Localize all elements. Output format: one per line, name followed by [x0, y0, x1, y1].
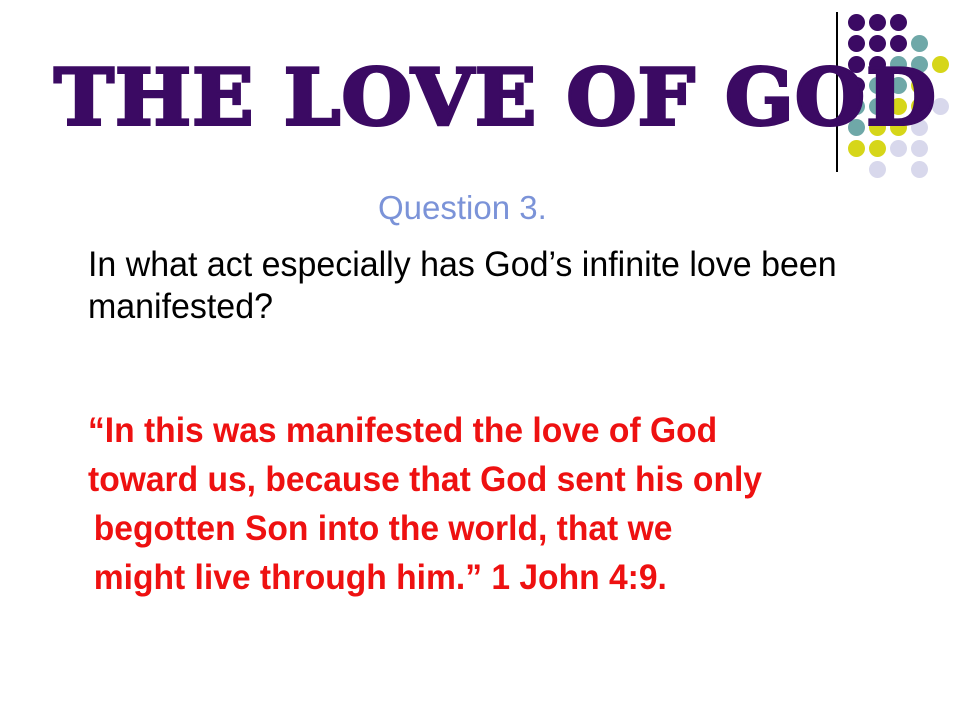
deco-dot-purple [890, 35, 907, 52]
deco-dot-lavender [911, 161, 928, 178]
scripture-line: “In this was manifested the love of God [88, 406, 885, 455]
deco-dot-purple [890, 14, 907, 31]
deco-dot-purple [869, 35, 886, 52]
scripture-line: begotten Son into the world, that we [88, 504, 885, 553]
deco-dot-purple [848, 35, 865, 52]
deco-dot-purple [848, 14, 865, 31]
scripture-line: might live through him.” 1 John 4:9. [88, 553, 885, 602]
slide-title: THE LOVE OF GOD [54, 57, 838, 139]
deco-dot-lavender [869, 161, 886, 178]
question-text: In what act especially has God’s infinit… [88, 244, 864, 328]
deco-dot-purple [869, 14, 886, 31]
deco-dot-teal [911, 35, 928, 52]
question-number-label: Question 3. [378, 188, 547, 228]
scripture-quote: “In this was manifested the love of Godt… [88, 406, 885, 602]
scripture-line: toward us, because that God sent his onl… [88, 455, 885, 504]
slide-canvas: THE LOVE OF GOD Question 3. In what act … [0, 0, 960, 720]
